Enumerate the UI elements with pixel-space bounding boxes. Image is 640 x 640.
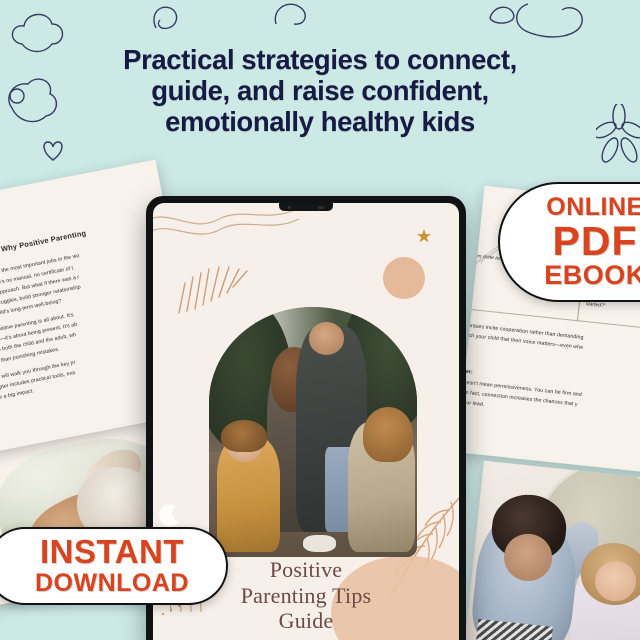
instant-download-badge[interactable]: INSTANT DOWNLOAD: [0, 527, 228, 605]
pdf-badge-line-1: ONLINE: [546, 195, 640, 220]
wave-doodle: [153, 203, 307, 259]
headline-line-1: Practical strategies to connect,: [24, 44, 616, 75]
quote-right-text-2: started?": [585, 301, 605, 309]
instant-download-line-2: DOWNLOAD: [35, 571, 189, 596]
instant-download-line-1: INSTANT: [40, 536, 184, 568]
speaker-icon: [318, 206, 324, 209]
pdf-badge-line-3: EBOOK: [544, 262, 640, 288]
headline-line-2: guide, and raise confident,: [24, 75, 616, 106]
circle-decoration: [383, 257, 425, 299]
poster-canvas: Practical strategies to connect, guide, …: [0, 0, 640, 640]
moon-icon: [159, 502, 185, 528]
pdf-badge-line-2: PDF: [553, 221, 638, 261]
star-icon: [417, 229, 431, 243]
online-pdf-ebook-badge[interactable]: ONLINE PDF EBOOK: [498, 182, 640, 302]
swirl-doodle-top-right: [508, 0, 586, 48]
heart-doodle-left: [40, 138, 66, 162]
loop-doodle-top-center: [272, 0, 314, 28]
tablet-notch: [279, 203, 333, 211]
right-bottom-photo: [465, 461, 640, 640]
headline-line-3: emotionally healthy kids: [24, 106, 616, 137]
tablet-cover-photo: [209, 307, 417, 557]
squiggle-doodle-top: [148, 2, 188, 32]
camera-icon: [288, 206, 291, 209]
headline: Practical strategies to connect, guide, …: [0, 44, 640, 137]
ebook-title-line-3: Guide: [153, 608, 459, 634]
eye-doodle-top-right: [486, 2, 518, 28]
